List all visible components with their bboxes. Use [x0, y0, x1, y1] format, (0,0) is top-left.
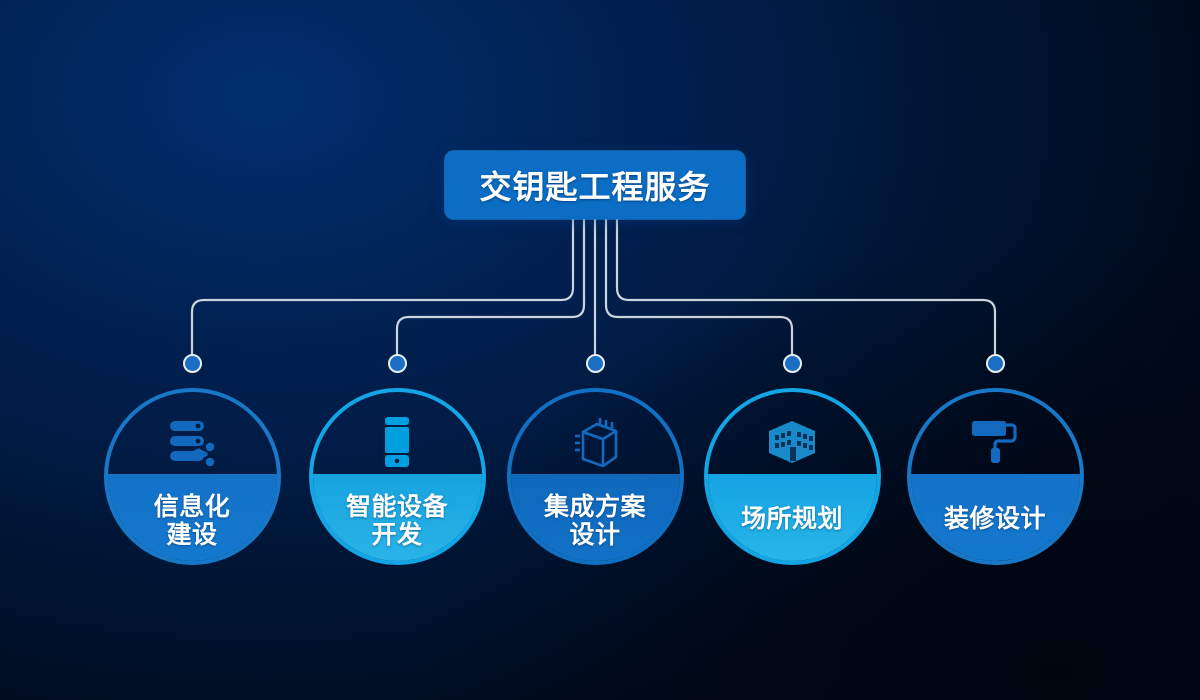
label-line-2: 建设 — [108, 521, 277, 549]
server-stack-icon — [108, 412, 277, 474]
chip-icon — [511, 412, 680, 474]
label-line-1: 集成方案 — [511, 493, 680, 521]
diagram-canvas: 交钥匙工程服务 — [0, 0, 1200, 700]
service-label-decoration-design: 装修设计 — [911, 505, 1080, 533]
node-dot-informatization — [183, 354, 202, 373]
connector-path-5 — [617, 219, 995, 355]
label-line-2: 设计 — [511, 521, 680, 549]
service-label-informatization: 信息化 建设 — [108, 493, 277, 549]
label-line-1: 装修设计 — [911, 505, 1080, 533]
node-dot-site-planning — [783, 354, 802, 373]
service-circle-integrated-solution-design[interactable]: 集成方案 设计 — [507, 388, 684, 565]
label-line-1: 信息化 — [108, 493, 277, 521]
service-circle-smart-device-development[interactable]: 智能设备 开发 — [309, 388, 486, 565]
service-circle-decoration-design[interactable]: 装修设计 — [907, 388, 1084, 565]
label-line-1: 智能设备 — [313, 493, 482, 521]
connector-path-1 — [192, 219, 573, 355]
service-circle-informatization[interactable]: 信息化 建设 — [104, 388, 281, 565]
connector-lines — [0, 0, 1200, 700]
background-vignette — [0, 0, 1200, 700]
service-label-integrated-solution-design: 集成方案 设计 — [511, 493, 680, 549]
service-label-smart-device-development: 智能设备 开发 — [313, 493, 482, 549]
paint-roller-icon — [911, 412, 1080, 474]
node-dot-decoration-design — [986, 354, 1005, 373]
connector-path-4 — [606, 219, 792, 355]
node-dot-integrated-solution-design — [586, 354, 605, 373]
node-dot-smart-device-development — [388, 354, 407, 373]
page-title: 交钥匙工程服务 — [479, 162, 710, 208]
connector-path-2 — [397, 219, 584, 355]
building-icon — [708, 412, 877, 474]
label-line-2: 开发 — [313, 521, 482, 549]
service-label-site-planning: 场所规划 — [708, 505, 877, 533]
label-line-1: 场所规划 — [708, 505, 877, 533]
service-circle-site-planning[interactable]: 场所规划 — [704, 388, 881, 565]
smartphone-icon — [313, 412, 482, 474]
root-title-box[interactable]: 交钥匙工程服务 — [445, 151, 745, 219]
